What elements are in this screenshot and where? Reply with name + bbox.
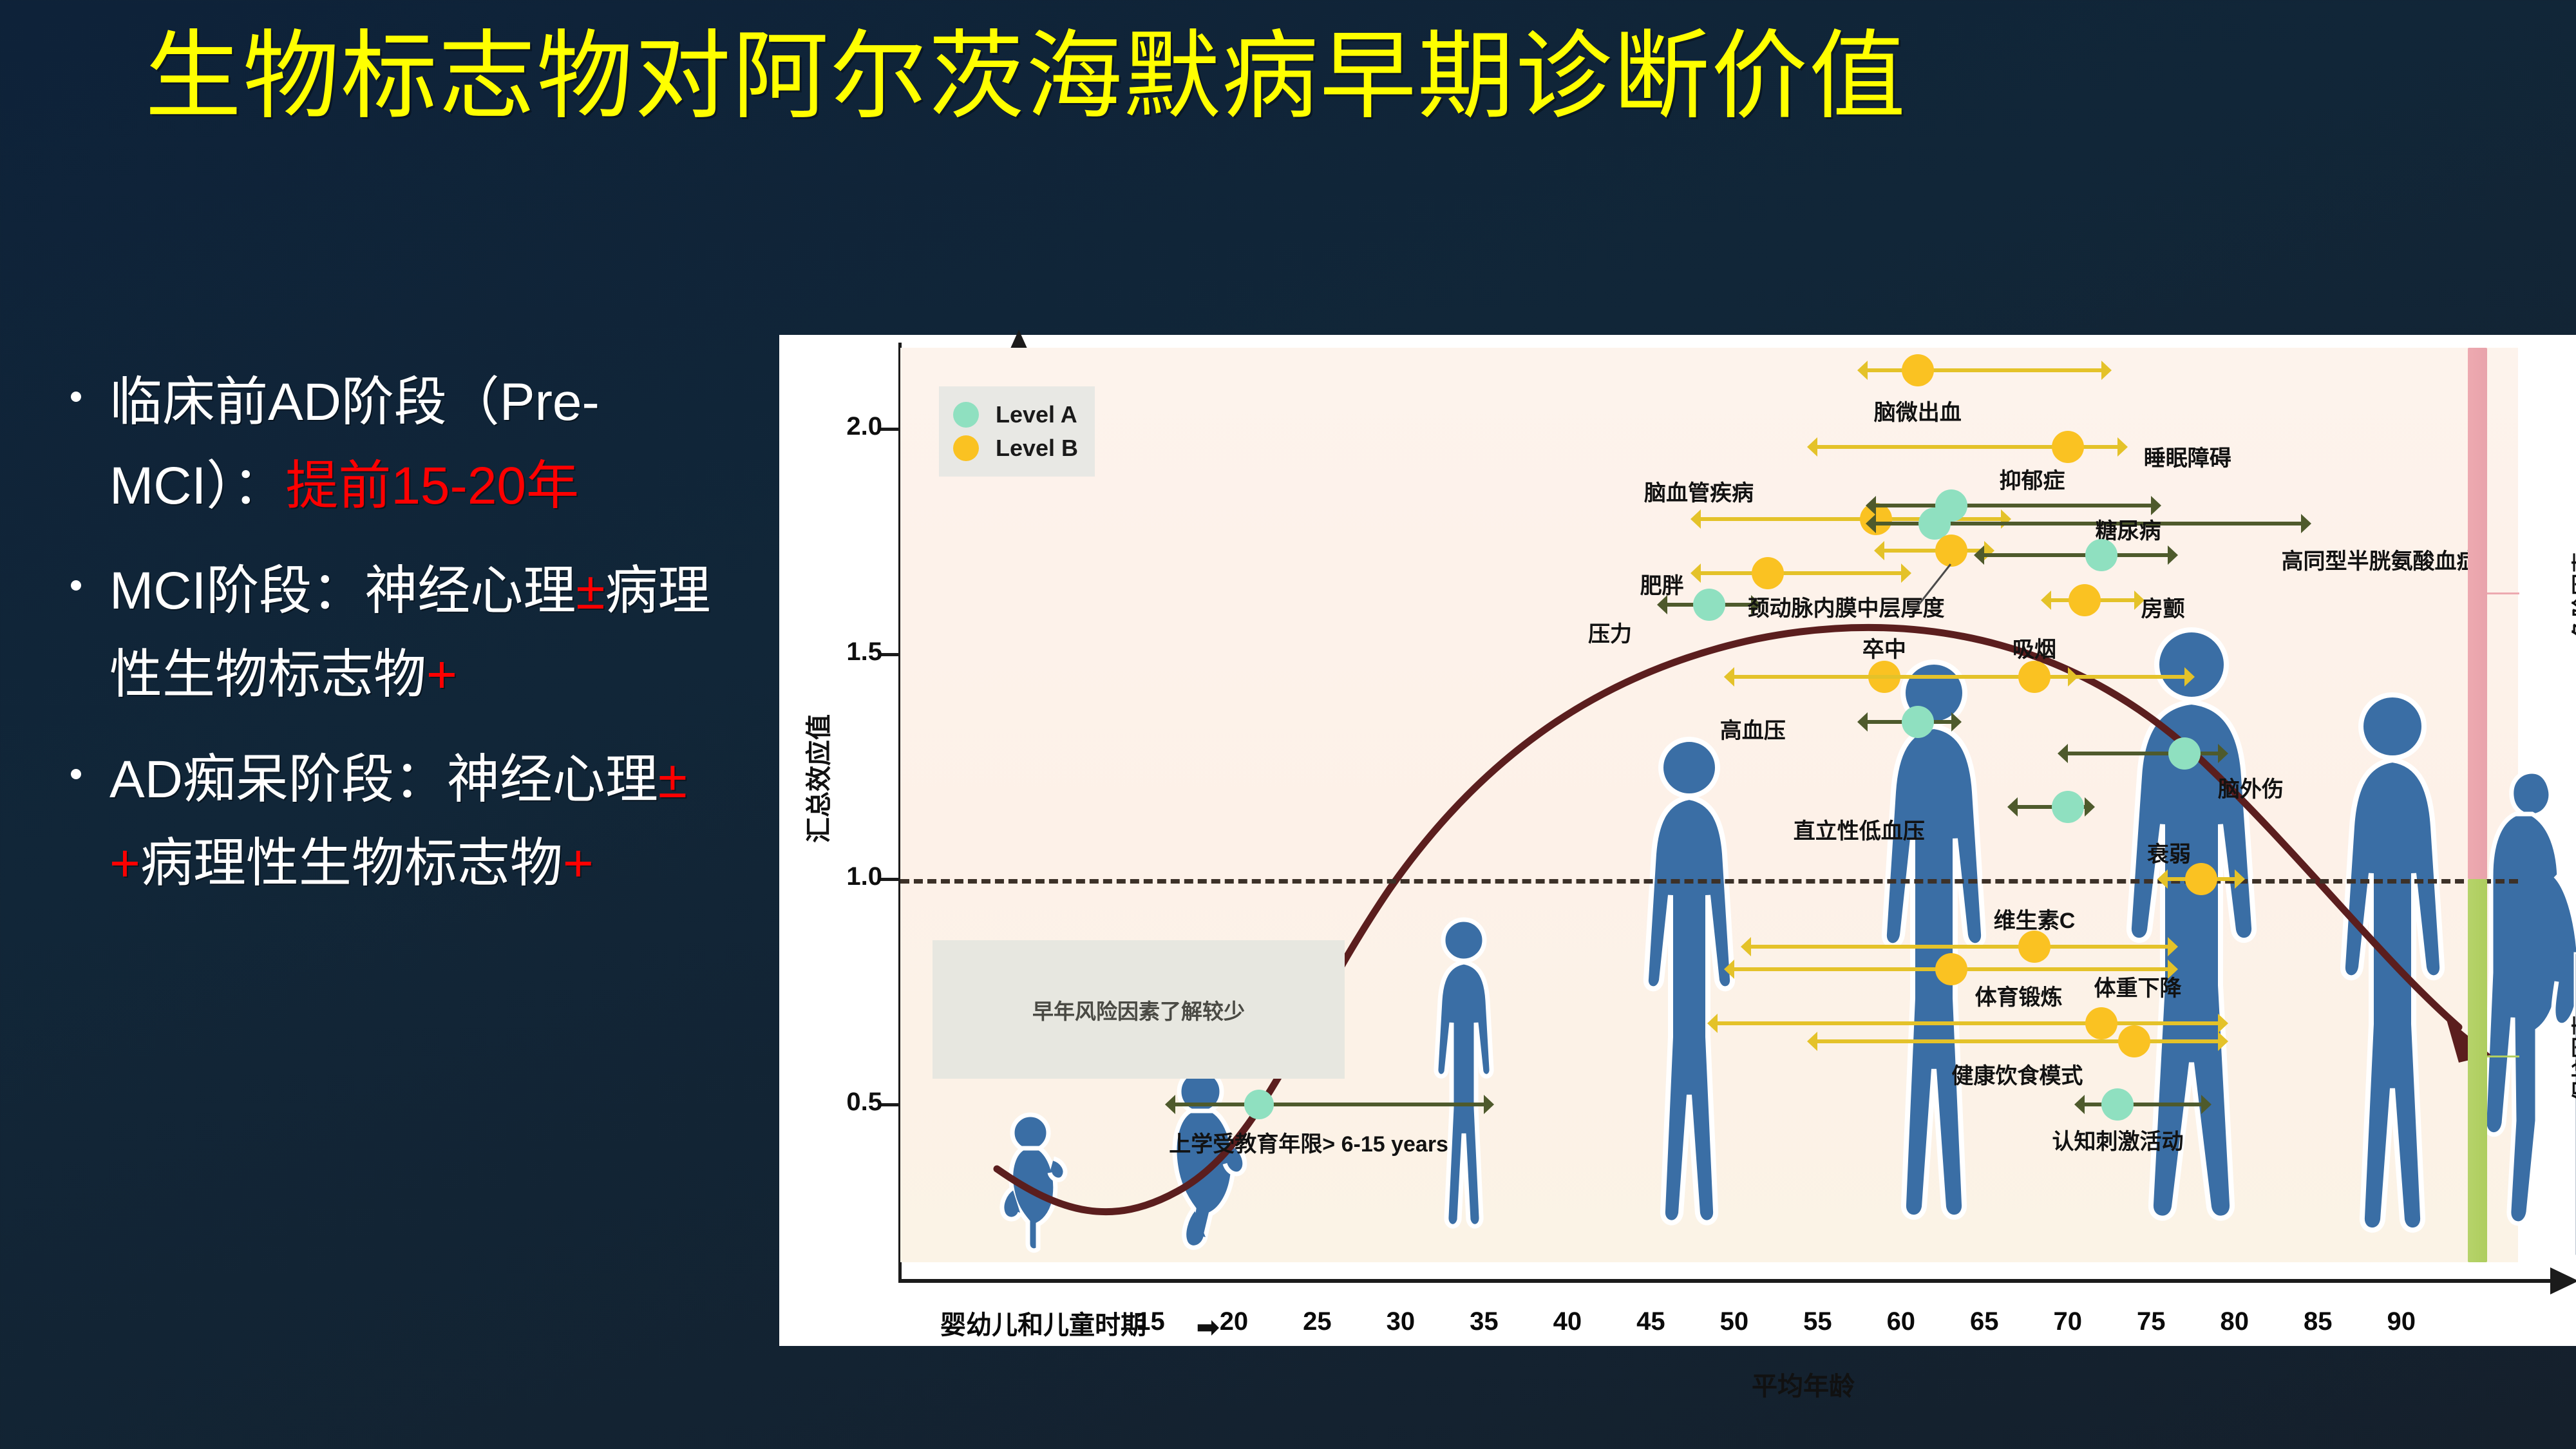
ci-cap-left-icon [1724, 667, 1734, 687]
confidence-interval-line [1817, 1039, 2218, 1043]
forest-row-label: 高同型半胱氨酸血症 [2282, 544, 2479, 575]
plot-area: Level A Level B 早年风险因素了解较少 脑微出血睡眠障碍脑血管疾病… [900, 348, 2518, 1262]
confidence-interval-line [1175, 1103, 1484, 1106]
list-item: MCI阶段：神经心理±病理性生物标志物+ [58, 549, 753, 716]
effect-size-marker-b [2018, 661, 2050, 693]
effect-size-marker-b [1935, 953, 1967, 985]
y-axis-title: 汇总效应值 [798, 714, 835, 843]
legend-label-level-a: Level A [996, 401, 1077, 428]
x-axis-title: 平均年龄 [1752, 1365, 1855, 1403]
silhouette-adult-2 [1866, 657, 2002, 1269]
ci-cap-left-icon [1807, 1032, 1817, 1051]
ci-cap-left-icon [1874, 541, 1884, 560]
forest-row-label: 维生素C [1994, 903, 2076, 934]
silhouette-adult-4 [2324, 689, 2462, 1278]
effect-size-marker-b [1860, 503, 1892, 535]
early-risk-note: 早年风险因素了解较少 [933, 940, 1345, 1079]
confidence-interval-line [1701, 571, 1901, 575]
y-tick-label: 1.5 [753, 638, 882, 667]
ci-cap-left-icon [1866, 514, 1876, 533]
bullet-text: AD痴呆阶段：神经心理 [109, 750, 658, 809]
effect-size-marker-b [2069, 584, 2101, 616]
effect-size-marker-b [2085, 1007, 2117, 1039]
arrow-right-icon: ➡ [1197, 1311, 1219, 1343]
forest-row-label: 高血压 [1720, 713, 1786, 744]
confidence-interval-line [1718, 1021, 2218, 1025]
ci-cap-left-icon [1857, 712, 1868, 732]
education-years-label: 上学受教育年限> 6-15 years [1169, 1126, 1448, 1158]
ci-cap-left-icon [2157, 869, 2168, 889]
forest-row-label: 卒中 [1862, 632, 1906, 663]
ci-cap-left-icon [1741, 937, 1751, 956]
effect-size-marker-a [2085, 539, 2117, 571]
effect-size-marker-a [1244, 1090, 1274, 1119]
forest-row-label: 体育锻炼 [1975, 980, 2063, 1011]
legend-item-level-a: Level A [953, 398, 1078, 431]
forest-row-label: 颈动脉内膜中层厚度 [1748, 591, 1945, 622]
forest-row-label: 体重下降 [2094, 971, 2182, 1002]
x-tick-label: 85 [2304, 1307, 2333, 1336]
bullet-dot [71, 769, 81, 779]
x-tick-label: 30 [1387, 1307, 1416, 1336]
ci-cap-right-icon [2218, 1014, 2228, 1033]
ci-cap-right-icon [1484, 1095, 1494, 1114]
silhouette-adult-1 [1628, 734, 1750, 1269]
effect-size-marker-a [1693, 589, 1725, 621]
ci-cap-left-icon [1724, 960, 1734, 979]
ci-cap-right-icon [1951, 712, 1962, 732]
effect-size-marker-b [1935, 535, 1967, 567]
confidence-interval-line [1734, 675, 2184, 679]
ci-cap-right-icon [2151, 496, 2161, 515]
page-title: 生物标志物对阿尔茨海默病早期诊断价值 [145, 26, 1907, 128]
legend-swatch-level-a [953, 402, 979, 428]
ci-cap-left-icon [1657, 595, 1667, 614]
effect-size-marker-a [2168, 737, 2201, 770]
bullet-highlight-2: + [563, 834, 594, 893]
bullet-highlight-2: + [426, 645, 457, 704]
forest-row-label: 衰弱 [2147, 837, 2191, 868]
forest-row-label: 房颤 [2141, 591, 2185, 623]
forest-row-label: 抑郁症 [2000, 463, 2065, 495]
side-bar-tick [2487, 592, 2519, 594]
legend-label-level-b: Level B [996, 435, 1078, 462]
legend-item-level-b: Level B [953, 431, 1078, 465]
silhouette-child-standing [1416, 914, 1512, 1262]
effect-size-marker-b [1902, 354, 1934, 386]
ci-cap-right-icon [2301, 514, 2311, 533]
ci-cap-right-icon [2218, 1032, 2228, 1051]
ci-cap-left-icon [1866, 496, 1876, 515]
ci-cap-left-icon [1690, 509, 1701, 529]
effect-size-marker-b [2052, 431, 2084, 463]
effect-size-marker-a [1902, 706, 1934, 738]
side-bar-label-risk: 危险因素 [2566, 551, 2576, 639]
confidence-interval-line [1876, 504, 2151, 507]
ci-cap-right-icon [2184, 667, 2195, 687]
ci-cap-left-icon [1165, 1095, 1175, 1114]
ci-cap-right-icon [2168, 545, 2178, 565]
ci-cap-left-icon [2058, 744, 2068, 763]
bullet-highlight: ± [576, 562, 605, 620]
forest-row-label: 睡眠障碍 [2144, 440, 2231, 472]
ci-cap-left-icon [1707, 1014, 1718, 1033]
silhouette-infant-crawling [990, 1111, 1074, 1259]
x-tick-label: 80 [2221, 1307, 2249, 1336]
x-axis-line [898, 1279, 2553, 1283]
reference-line-1.0 [900, 879, 2518, 884]
x-tick-label: 40 [1553, 1307, 1582, 1336]
side-bar-label-protective: 保护因素 [2566, 1014, 2576, 1102]
ci-cap-left-icon [1857, 361, 1868, 380]
ci-cap-right-icon [1984, 541, 1994, 560]
ci-cap-right-icon [1901, 563, 1911, 583]
forest-row-label: 认知刺激活动 [2052, 1124, 2183, 1155]
side-bar-risk [2468, 348, 2487, 879]
x-tick-label: 65 [1970, 1307, 1999, 1336]
effect-size-marker-b [2118, 1025, 2150, 1057]
forest-row-label: 压力 [1588, 616, 1632, 648]
forest-row-label: 脑微出血 [1874, 395, 1962, 426]
ci-cap-left-icon [1807, 437, 1817, 457]
forest-row-label: 直立性低血压 [1794, 813, 1925, 845]
effect-size-marker-a [2101, 1088, 2134, 1121]
x-tick-label: 45 [1636, 1307, 1665, 1336]
ci-cap-left-icon [2007, 797, 2018, 817]
confidence-interval-line [1984, 553, 2168, 557]
list-item: AD痴呆阶段：神经心理±+病理性生物标志物+ [58, 738, 753, 905]
bullet-highlight: 提前15-20年 [285, 457, 579, 515]
x-tick-label: 70 [2054, 1307, 2083, 1336]
bullet-text: MCI阶段：神经心理 [109, 562, 576, 620]
effect-size-marker-a [2052, 791, 2084, 823]
forest-row-label: 健康饮食模式 [1951, 1058, 2083, 1090]
bullet-dot [71, 392, 81, 402]
ci-cap-left-icon [2041, 591, 2051, 610]
x-tick-label: 90 [2387, 1307, 2416, 1336]
x-tick-label: 55 [1803, 1307, 1832, 1336]
confidence-interval-line [1751, 945, 2168, 949]
ci-cap-right-icon [2085, 797, 2095, 817]
x-tick-label: 50 [1720, 1307, 1749, 1336]
forest-row-label: 脑外伤 [2218, 772, 2284, 803]
ci-cap-right-icon [2001, 509, 2011, 529]
side-bar-protective [2468, 879, 2487, 1262]
y-tick-label: 0.5 [753, 1088, 882, 1117]
x-tick-label: 75 [2137, 1307, 2166, 1336]
ci-cap-left-icon [2074, 1095, 2085, 1114]
x-tick-label: 25 [1303, 1307, 1332, 1336]
effect-size-marker-b [2018, 931, 2050, 963]
effect-size-marker-b [1752, 557, 1784, 589]
infancy-period-label: 婴幼儿和儿童时期 [940, 1304, 1146, 1341]
bullet-text-tail: 病理性生物标志物 [140, 834, 563, 893]
y-tick-label: 1.0 [753, 862, 882, 891]
ci-cap-right-icon [2201, 1095, 2211, 1114]
x-tick-label: 35 [1470, 1307, 1499, 1336]
ci-cap-right-icon [2101, 361, 2112, 380]
side-bar-tick [2487, 1056, 2519, 1057]
y-tick-label: 2.0 [753, 412, 882, 441]
ci-cap-right-icon [2168, 937, 2178, 956]
legend-swatch-level-b [953, 435, 979, 461]
bullet-list: 临床前AD阶段（Pre-MCI）：提前15-20年 MCI阶段：神经心理±病理性… [58, 361, 753, 927]
ci-cap-right-icon [2117, 437, 2128, 457]
forest-row-label: 脑血管疾病 [1644, 475, 1754, 507]
bullet-dot [71, 580, 81, 591]
list-item: 临床前AD阶段（Pre-MCI）：提前15-20年 [58, 361, 753, 527]
forest-row-label: 吸烟 [2012, 632, 2056, 663]
chart-card: 汇总效应值 平均年龄 0.51.01.52.0 1520253035404550… [779, 335, 2576, 1346]
ci-cap-right-icon [2218, 744, 2228, 763]
plot-wrapper: 汇总效应值 平均年龄 0.51.01.52.0 1520253035404550… [779, 335, 2576, 1346]
ci-cap-right-icon [2235, 869, 2245, 889]
chart-legend: Level A Level B [939, 386, 1095, 477]
ci-cap-left-icon [1974, 545, 1984, 565]
x-tick-label: 20 [1220, 1307, 1249, 1336]
ci-cap-left-icon [1690, 563, 1701, 583]
x-tick-label: 60 [1887, 1307, 1916, 1336]
